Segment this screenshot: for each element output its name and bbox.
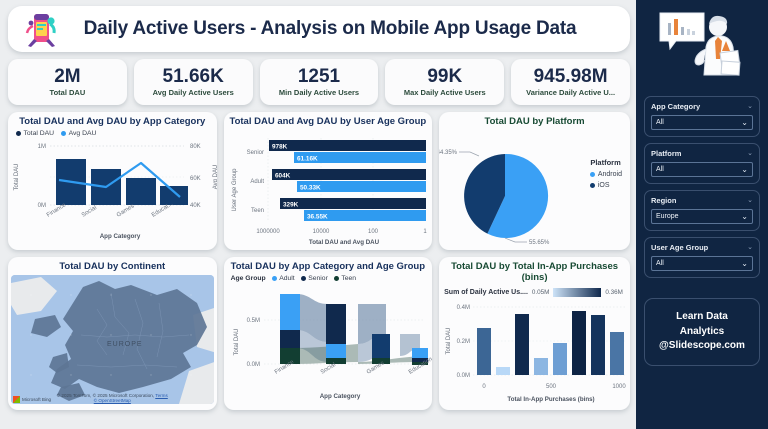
map-total-dau-by-continent[interactable]: Total DAU by Continent bbox=[8, 257, 217, 410]
slicer-user-age-group[interactable]: User Age Group ⌄ All ⌄ bbox=[644, 237, 760, 278]
x-tick-label: 0 bbox=[482, 384, 486, 390]
bar-senior-total-dau[interactable] bbox=[269, 140, 426, 151]
promo-line-1: Learn Data bbox=[649, 310, 755, 325]
pie-label-android: 55.65% bbox=[529, 240, 550, 245]
kpi-card-max-daily-active-users[interactable]: 99K Max Daily Active Users bbox=[385, 59, 504, 105]
slicer-value: All bbox=[656, 119, 664, 126]
chevron-down-icon[interactable]: ⌄ bbox=[741, 119, 748, 127]
y-tick-label: 0.5M bbox=[246, 318, 259, 324]
chart-legend: Total DAU Avg DAU bbox=[8, 130, 217, 137]
chevron-down-icon[interactable]: ⌄ bbox=[747, 244, 753, 251]
kpi-card-min-daily-active-users[interactable]: 1251 Min Daily Active Users bbox=[260, 59, 379, 105]
legend-swatch-icon bbox=[301, 276, 306, 281]
bar-games[interactable] bbox=[126, 178, 156, 205]
bar-value-label: 61.16K bbox=[297, 155, 318, 162]
visual-row-2: Total DAU by Continent bbox=[8, 257, 630, 410]
chevron-down-icon[interactable]: ⌄ bbox=[741, 166, 748, 174]
slicer-label: User Age Group bbox=[651, 243, 708, 252]
legend-swatch-icon bbox=[590, 172, 595, 177]
slicer-platform[interactable]: Platform ⌄ All ⌄ bbox=[644, 143, 760, 184]
kpi-row: 2M Total DAU 51.66K Avg Daily Active Use… bbox=[8, 59, 630, 105]
y-tick-label: 0M bbox=[38, 203, 46, 209]
bar-value-label: 329K bbox=[283, 201, 299, 208]
bar-value-label: 50.33K bbox=[300, 184, 321, 191]
legend-item-ios[interactable]: iOS bbox=[590, 182, 622, 189]
legend-item-adult[interactable]: Adult bbox=[272, 275, 295, 282]
pie-legend: Platform Android iOS bbox=[590, 158, 622, 189]
legend-label: Teen bbox=[341, 275, 356, 282]
slicer-header: User Age Group ⌄ bbox=[651, 243, 753, 252]
visual-grid: Total DAU and Avg DAU by App Category To… bbox=[8, 112, 630, 410]
x-tick-label: 1 bbox=[423, 229, 427, 235]
map-graticule bbox=[11, 275, 214, 404]
legend-item-teen[interactable]: Teen bbox=[334, 275, 356, 282]
kpi-value: 51.66K bbox=[163, 67, 224, 87]
chart-plot-area: 0.4M 0.2M 0.0M Total DAU bbox=[439, 297, 630, 410]
kpi-value: 99K bbox=[427, 67, 462, 87]
legend-item-android[interactable]: Android bbox=[590, 171, 622, 178]
bar-bin-140[interactable] bbox=[496, 367, 510, 375]
bar-value-label: 36.55K bbox=[307, 213, 328, 220]
slicer-region[interactable]: Region ⌄ Europe ⌄ bbox=[644, 190, 760, 231]
chart-plot-area: 0.5M 0.0M Total DAU bbox=[224, 282, 433, 402]
kpi-card-avg-daily-active-users[interactable]: 51.66K Avg Daily Active Users bbox=[134, 59, 253, 105]
legend-title: Age Group bbox=[231, 275, 266, 282]
map-attribution: © 2025 TomTom, © 2025 Microsoft Corporat… bbox=[11, 393, 214, 403]
bar-teen-total-dau[interactable] bbox=[280, 198, 426, 209]
legend-item-senior[interactable]: Senior bbox=[301, 275, 328, 282]
chart-total-dau-by-total-inapp-purchases[interactable]: Total DAU by Total In-App Purchases (bin… bbox=[439, 257, 630, 410]
legend-max-label: 0.36M bbox=[605, 289, 623, 296]
bar-bin-990[interactable] bbox=[610, 332, 624, 375]
legend-title: Platform bbox=[590, 158, 622, 167]
legend-min-label: 0.05M bbox=[532, 289, 550, 296]
x-tick-label: Games bbox=[116, 203, 136, 218]
legend-label: Senior bbox=[308, 275, 328, 282]
y-tick-label: 0.0M bbox=[246, 362, 259, 368]
x-tick-label: 100 bbox=[368, 229, 379, 235]
page-title: Daily Active Users - Analysis on Mobile … bbox=[64, 18, 630, 40]
promo-line-3: @Slidescope.com bbox=[649, 339, 755, 354]
chart-title: Total DAU and Avg DAU by App Category bbox=[8, 112, 217, 130]
slicer-value: All bbox=[656, 166, 664, 173]
kpi-label: Max Daily Active Users bbox=[404, 88, 486, 97]
analyst-presenting-chart-illustration-icon bbox=[644, 4, 760, 90]
legend-item-total-dau[interactable]: Total DAU bbox=[16, 130, 54, 137]
x-tick-label: 500 bbox=[546, 384, 557, 390]
y-axis-title: User Age Group bbox=[232, 168, 238, 212]
legend-label: Total DAU bbox=[24, 130, 55, 137]
slicer-app-category[interactable]: App Category ⌄ All ⌄ bbox=[644, 96, 760, 137]
segment-finance-senior[interactable] bbox=[280, 330, 300, 348]
chart-title: Total DAU by Total In-App Purchases (bin… bbox=[439, 257, 630, 286]
chart-title: Total DAU by Continent bbox=[8, 257, 217, 275]
y-tick-label: 0.2M bbox=[457, 339, 470, 345]
y2-tick-label: 60K bbox=[190, 176, 201, 182]
chart-plot-area: User Age Group Senior Adult Teen 978K bbox=[224, 130, 433, 248]
y-tick-label: Adult bbox=[250, 179, 264, 185]
bar-bin-0[interactable] bbox=[477, 328, 491, 375]
segment-social-adult[interactable] bbox=[326, 344, 346, 358]
legend-swatch-icon bbox=[16, 131, 21, 136]
y2-tick-label: 40K bbox=[190, 203, 201, 209]
slicer-dropdown[interactable]: All ⌄ bbox=[651, 115, 753, 130]
y-axis-title: Total DAU bbox=[14, 163, 20, 190]
legend-title: Sum of Daily Active Us.... bbox=[444, 289, 528, 296]
legend-label: Adult bbox=[279, 275, 295, 282]
legend-gradient-bar bbox=[553, 288, 601, 297]
slicer-label: Platform bbox=[651, 149, 681, 158]
map-openstreetmap-link[interactable]: © OpenStreetMap bbox=[94, 398, 131, 403]
bar-bin-290[interactable] bbox=[515, 314, 529, 375]
kpi-card-total-dau[interactable]: 2M Total DAU bbox=[8, 59, 127, 105]
y-axis-title: Total DAU bbox=[446, 327, 452, 354]
kpi-label: Total DAU bbox=[50, 88, 86, 97]
y-tick-label: 0.4M bbox=[457, 305, 470, 311]
y2-axis-title: Avg DAU bbox=[213, 165, 217, 190]
kpi-value: 945.98M bbox=[534, 67, 608, 87]
kpi-card-variance-daily-active-users[interactable]: 945.98M Variance Daily Active U... bbox=[511, 59, 630, 105]
legend-label: Avg DAU bbox=[69, 130, 97, 137]
bar-value-label: 978K bbox=[272, 143, 288, 150]
chart-total-dau-by-app-category-and-age-group[interactable]: Total DAU by App Category and Age Group … bbox=[224, 257, 433, 410]
y-axis-title: Total DAU bbox=[234, 328, 240, 355]
bar-value-label: 604K bbox=[275, 172, 291, 179]
chevron-down-icon[interactable]: ⌄ bbox=[747, 103, 753, 110]
kpi-value: 1251 bbox=[298, 67, 340, 87]
chart-plot-area: 1M 0M Total DAU 80K 60K 40K Avg DAU bbox=[8, 137, 217, 242]
legend-item-avg-dau[interactable]: Avg DAU bbox=[61, 130, 96, 137]
chart-total-dau-and-avg-dau-by-user-age-group[interactable]: Total DAU and Avg DAU by User Age Group … bbox=[224, 112, 433, 250]
segment-finance-adult[interactable] bbox=[280, 294, 300, 330]
legend-swatch-icon bbox=[590, 183, 595, 188]
slicer-header: Region ⌄ bbox=[651, 196, 753, 205]
pie-label-ios: 44.35% bbox=[439, 150, 458, 156]
legend-swatch-icon bbox=[334, 276, 339, 281]
y-tick-label: 0.0M bbox=[457, 373, 470, 379]
slicer-header: App Category ⌄ bbox=[651, 102, 753, 111]
chart-legend: Age Group Adult Senior Teen bbox=[224, 275, 433, 282]
chart-title: Total DAU and Avg DAU by User Age Group bbox=[224, 112, 433, 130]
slicer-value: Europe bbox=[656, 213, 679, 220]
bar-adult-total-dau[interactable] bbox=[272, 169, 426, 180]
promo-card[interactable]: Learn Data Analytics @Slidescope.com bbox=[644, 298, 760, 366]
kpi-label: Avg Daily Active Users bbox=[153, 88, 234, 97]
x-axis-title: App Category bbox=[100, 233, 141, 240]
map-plot-area[interactable]: EUROPE Microsoft Bing © 2025 TomTom, © 2… bbox=[11, 275, 214, 404]
chart-title: Total DAU by Platform bbox=[439, 112, 630, 130]
x-axis-title: App Category bbox=[319, 393, 360, 400]
chevron-down-icon[interactable]: ⌄ bbox=[747, 197, 753, 204]
chevron-down-icon[interactable]: ⌄ bbox=[741, 260, 748, 268]
chart-total-dau-by-platform[interactable]: Total DAU by Platform 44.35% 55.65% Plat bbox=[439, 112, 630, 250]
legend-swatch-icon bbox=[61, 131, 66, 136]
report-title-bar: Daily Active Users - Analysis on Mobile … bbox=[8, 6, 630, 52]
filter-sidebar: App Category ⌄ All ⌄ Platform ⌄ All ⌄ Re… bbox=[636, 0, 768, 429]
x-tick-label: Social bbox=[81, 205, 98, 219]
legend-label: iOS bbox=[598, 182, 610, 189]
chevron-down-icon[interactable]: ⌄ bbox=[747, 150, 753, 157]
segment-social-senior[interactable] bbox=[326, 304, 346, 344]
slicer-dropdown[interactable]: All ⌄ bbox=[651, 162, 753, 177]
slicer-dropdown[interactable]: Europe ⌄ bbox=[651, 209, 753, 224]
chart-total-dau-and-avg-dau-by-app-category[interactable]: Total DAU and Avg DAU by App Category To… bbox=[8, 112, 217, 250]
kpi-value: 2M bbox=[54, 67, 80, 87]
y-tick-label: Teen bbox=[251, 208, 264, 214]
bar-bin-570[interactable] bbox=[553, 343, 567, 375]
visual-row-1: Total DAU and Avg DAU by App Category To… bbox=[8, 112, 630, 250]
segment-education-adult[interactable] bbox=[412, 348, 428, 358]
slicer-header: Platform ⌄ bbox=[651, 149, 753, 158]
y-tick-label: Senior bbox=[246, 150, 263, 156]
promo-line-2: Analytics bbox=[649, 325, 755, 340]
chart-title: Total DAU by App Category and Age Group bbox=[224, 257, 433, 275]
bar-education[interactable] bbox=[160, 186, 188, 205]
person-with-phone-illustration-icon bbox=[20, 9, 64, 49]
bar-bin-850[interactable] bbox=[591, 315, 605, 375]
bar-bin-710[interactable] bbox=[572, 311, 586, 375]
x-tick-label: 1000000 bbox=[256, 229, 280, 235]
slicer-dropdown[interactable]: All ⌄ bbox=[651, 256, 753, 271]
y2-tick-label: 80K bbox=[190, 144, 201, 150]
kpi-label: Min Daily Active Users bbox=[279, 88, 359, 97]
map-terms-link[interactable]: Terms bbox=[155, 393, 168, 398]
chevron-down-icon[interactable]: ⌄ bbox=[741, 213, 748, 221]
legend-swatch-icon bbox=[272, 276, 277, 281]
legend-label: Android bbox=[598, 171, 622, 178]
segment-games-senior[interactable] bbox=[372, 334, 390, 358]
map-region-label: EUROPE bbox=[107, 341, 143, 348]
x-axis-title: Total In-App Purchases (bins) bbox=[508, 396, 595, 403]
segment-social-teen[interactable] bbox=[326, 358, 346, 364]
x-tick-label: 1000 bbox=[612, 384, 626, 390]
slicer-value: All bbox=[656, 260, 664, 267]
slicer-label: Region bbox=[651, 196, 676, 205]
bar-bin-430[interactable] bbox=[534, 358, 548, 375]
slicer-label: App Category bbox=[651, 102, 700, 111]
x-tick-label: 10000 bbox=[312, 229, 329, 235]
y-tick-label: 1M bbox=[38, 144, 46, 150]
gradient-legend: Sum of Daily Active Us.... 0.05M 0.36M bbox=[439, 286, 630, 297]
kpi-label: Variance Daily Active U... bbox=[526, 88, 615, 97]
report-canvas: Daily Active Users - Analysis on Mobile … bbox=[0, 0, 636, 429]
x-axis-title: Total DAU and Avg DAU bbox=[308, 239, 379, 246]
